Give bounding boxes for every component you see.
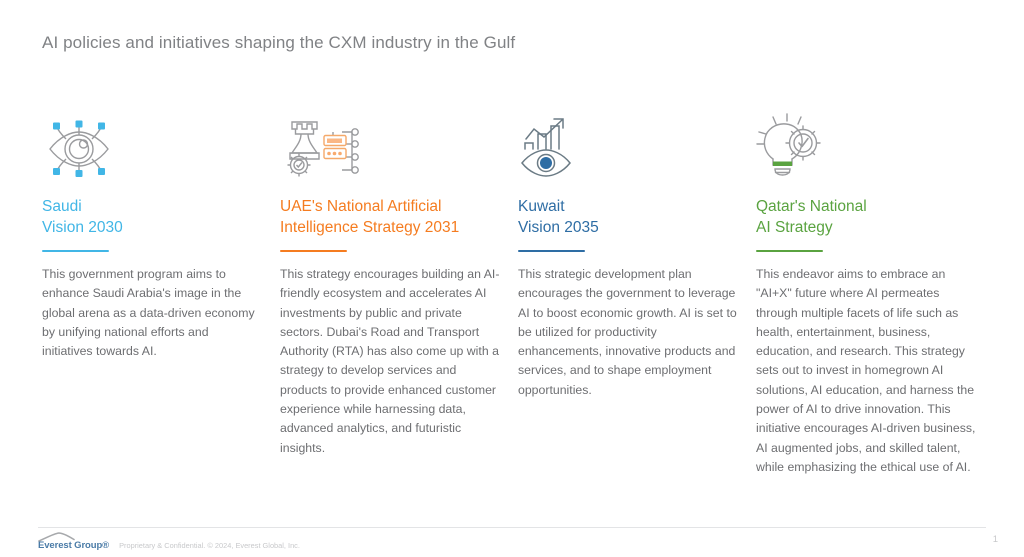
footer-note: Proprietary & Confidential. © 2024, Ever… — [119, 541, 300, 551]
heading-line-2: AI Strategy — [756, 217, 976, 238]
eye-network-icon — [42, 112, 262, 184]
page-title: AI policies and initiatives shaping the … — [42, 33, 515, 53]
footer-divider — [38, 527, 986, 528]
column-body-uae: This strategy encourages building an AI-… — [280, 265, 500, 458]
column-heading-uae: UAE's National Artificial Intelligence S… — [280, 196, 500, 238]
heading-line-1: Kuwait — [518, 196, 738, 217]
heading-line-1: Saudi — [42, 196, 262, 217]
column-uae: UAE's National Artificial Intelligence S… — [280, 112, 518, 477]
growth-chart-eye-icon — [518, 112, 738, 184]
column-heading-qatar: Qatar's National AI Strategy — [756, 196, 976, 238]
column-kuwait: Kuwait Vision 2035 This strategic develo… — [518, 112, 756, 477]
columns-container: Saudi Vision 2030 This government progra… — [42, 112, 994, 477]
column-body-saudi: This government program aims to enhance … — [42, 265, 262, 361]
lightbulb-gear-check-icon — [756, 112, 976, 184]
column-body-qatar: This endeavor aims to embrace an "AI+X" … — [756, 265, 976, 477]
everest-group-logo: Everest Group® — [38, 532, 109, 551]
footer: Everest Group® Proprietary & Confidentia… — [38, 532, 300, 551]
heading-line-2: Vision 2030 — [42, 217, 262, 238]
heading-line-2: Vision 2035 — [518, 217, 738, 238]
accent-rule-kuwait — [518, 250, 585, 252]
column-body-kuwait: This strategic development plan encourag… — [518, 265, 738, 400]
column-saudi: Saudi Vision 2030 This government progra… — [42, 112, 280, 477]
column-heading-saudi: Saudi Vision 2030 — [42, 196, 262, 238]
heading-line-1: UAE's National Artificial — [280, 196, 500, 217]
heading-line-1: Qatar's National — [756, 196, 976, 217]
rook-gear-server-icon — [280, 112, 500, 184]
logo-text: Everest Group® — [38, 541, 109, 551]
accent-rule-uae — [280, 250, 347, 252]
slide: AI policies and initiatives shaping the … — [0, 0, 1024, 557]
column-heading-kuwait: Kuwait Vision 2035 — [518, 196, 738, 238]
accent-rule-qatar — [756, 250, 823, 252]
heading-line-2: Intelligence Strategy 2031 — [280, 217, 500, 238]
page-number: 1 — [993, 534, 998, 545]
accent-rule-saudi — [42, 250, 109, 252]
column-qatar: Qatar's National AI Strategy This endeav… — [756, 112, 994, 477]
